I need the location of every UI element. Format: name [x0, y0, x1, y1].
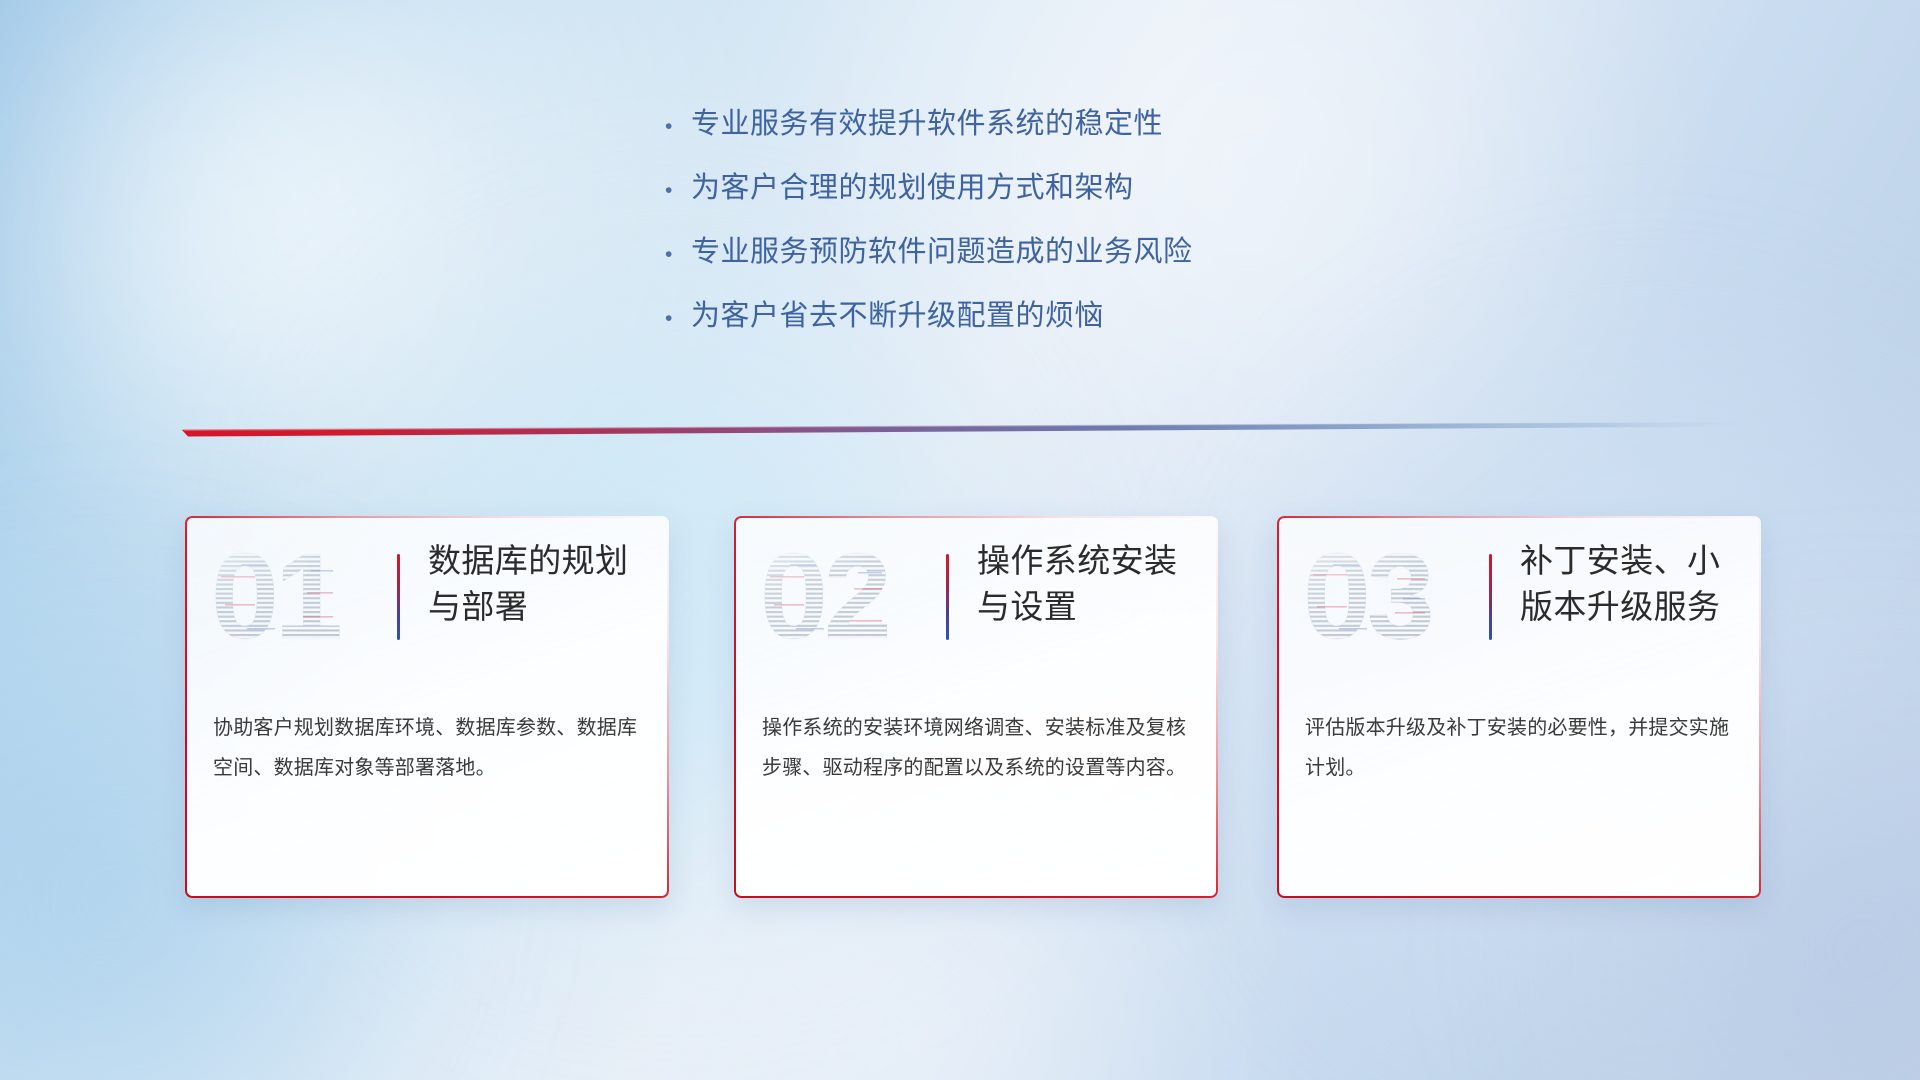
card-title: 补丁安装、小版本升级服务: [1520, 538, 1742, 629]
bullet-text: 为客户合理的规划使用方式和架构: [691, 164, 1134, 206]
card-description: 操作系统的安装环境网络调查、安装标准及复核步骤、驱动程序的配置以及系统的设置等内…: [762, 708, 1192, 788]
benefits-bullet-list: • 专业服务有效提升软件系统的稳定性 • 为客户合理的规划使用方式和架构 • 专…: [665, 100, 1193, 356]
card-header: 02 02 操作系统安装与设置: [734, 516, 1218, 684]
svg-text:01: 01: [211, 542, 340, 654]
list-item: • 专业服务预防软件问题造成的业务风险: [665, 228, 1193, 292]
service-card[interactable]: 02 02 操作系统安装与设置 操作系统的安装环境网: [734, 516, 1218, 898]
striped-number-icon: 02 02: [760, 542, 920, 654]
card-title: 操作系统安装与设置: [977, 538, 1199, 629]
bullet-dot-icon: •: [665, 116, 691, 137]
card-header: 01 01 数据库的规划与部署: [185, 516, 669, 684]
card-header: 03 03 补丁安装、小版本升级服务: [1277, 516, 1761, 684]
card-number-graphic: 02 02: [760, 542, 920, 654]
svg-text:02: 02: [760, 542, 888, 654]
card-number-graphic: 01 01: [211, 542, 371, 654]
service-cards: 01 01 数据库的规划与部署 协助客户规划数据库环: [0, 516, 1920, 936]
striped-number-icon: 03 03: [1303, 542, 1463, 654]
bullet-text: 专业服务预防软件问题造成的业务风险: [691, 228, 1193, 270]
title-accent-rule: [397, 554, 400, 640]
card-description: 评估版本升级及补丁安装的必要性，并提交实施计划。: [1305, 708, 1735, 788]
list-item: • 为客户省去不断升级配置的烦恼: [665, 292, 1193, 356]
bullet-text: 为客户省去不断升级配置的烦恼: [691, 292, 1104, 334]
bullet-text: 专业服务有效提升软件系统的稳定性: [691, 100, 1163, 142]
card-description: 协助客户规划数据库环境、数据库参数、数据库空间、数据库对象等部署落地。: [213, 708, 643, 788]
service-card[interactable]: 03 03 补丁安装、小版本升级服务 评估版本升级及: [1277, 516, 1761, 898]
divider-shape-icon: [182, 418, 1752, 440]
title-accent-rule: [1489, 554, 1492, 640]
service-card[interactable]: 01 01 数据库的规划与部署 协助客户规划数据库环: [185, 516, 669, 898]
bullet-dot-icon: •: [665, 180, 691, 201]
bullet-dot-icon: •: [665, 244, 691, 265]
list-item: • 为客户合理的规划使用方式和架构: [665, 164, 1193, 228]
bullet-dot-icon: •: [665, 308, 691, 329]
striped-number-icon: 01 01: [211, 542, 371, 654]
section-divider: [182, 418, 1752, 440]
list-item: • 专业服务有效提升软件系统的稳定性: [665, 100, 1193, 164]
card-title: 数据库的规划与部署: [428, 538, 650, 629]
title-accent-rule: [946, 554, 949, 640]
card-number-graphic: 03 03: [1303, 542, 1463, 654]
